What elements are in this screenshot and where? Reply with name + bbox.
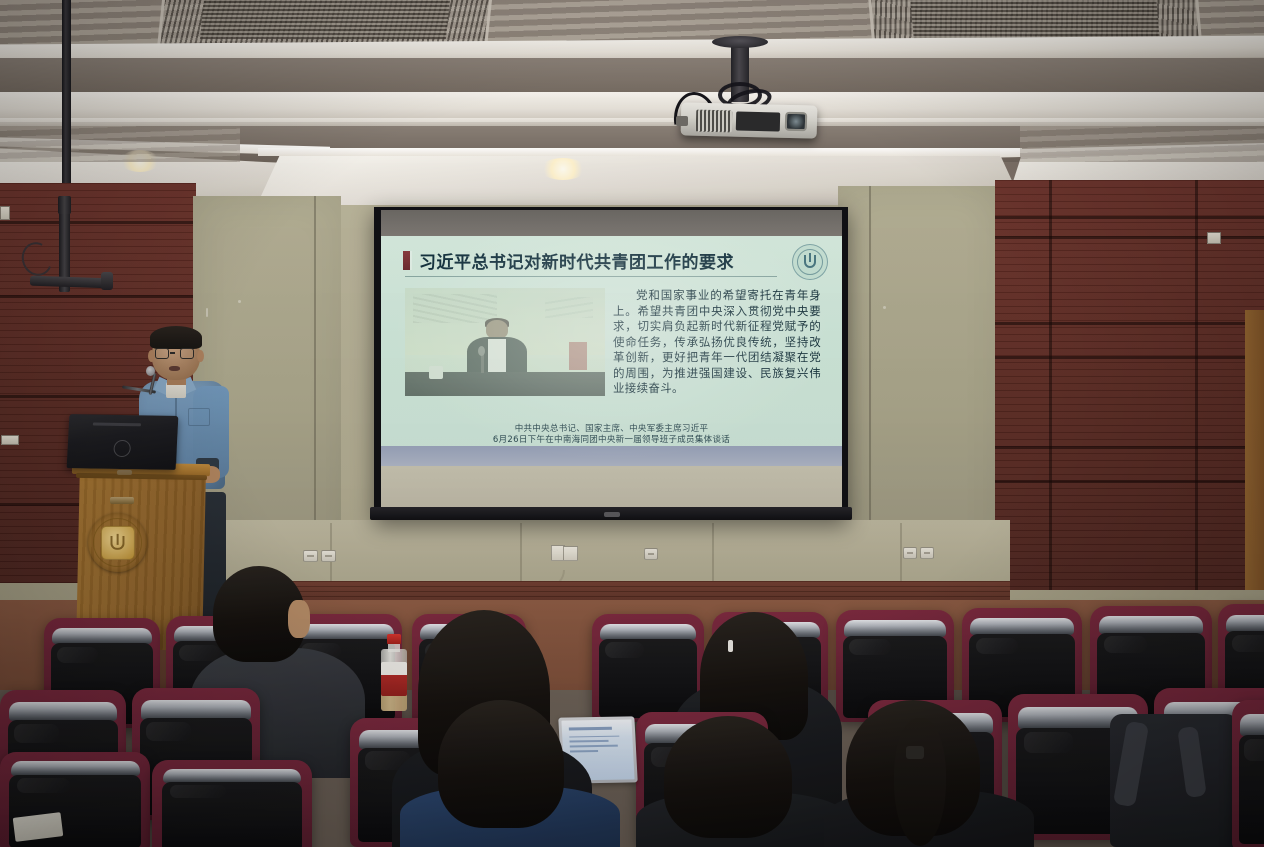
ceiling-coffer-center-lip — [258, 148, 1022, 156]
wall-bracket-base — [58, 196, 71, 214]
wall-lower-seam-3 — [712, 523, 714, 583]
bottle-label — [381, 662, 407, 696]
laptop-doc-line-4 — [570, 750, 598, 752]
slide: 习近平总书记对新时代共青团工作的要求 — [381, 236, 842, 466]
speaker-glasses-left-lens — [155, 348, 169, 359]
speaker-hair — [150, 326, 202, 349]
speaker-glasses-right-lens — [180, 348, 194, 359]
screen-top-rail — [381, 210, 842, 236]
slide-title-accent-bar — [403, 251, 410, 270]
wall-blemish-1 — [238, 300, 241, 303]
seat-foreground-left-2[interactable] — [152, 760, 312, 847]
wall-sign-right — [1207, 232, 1221, 244]
speaker-ear-left — [148, 350, 155, 362]
podium-control-button[interactable] — [117, 470, 132, 475]
person6-hair-claw-clip — [906, 746, 924, 759]
ceiling-slats-lower-right — [1020, 126, 1264, 162]
wall-outlet-2[interactable] — [321, 550, 336, 562]
seat-foreground-right[interactable] — [1232, 700, 1264, 847]
person4-head — [438, 700, 564, 828]
projector-connector — [676, 116, 688, 126]
person1-face-edge — [288, 600, 310, 638]
slide-caption-line1: 中共中央总书记、国家主席、中央军委主席习近平 — [381, 424, 842, 435]
slide-body-text: 党和国家事业的希望寄托在青年身上。希望共青团中央深入贯彻党中央要求，切实肩负起新… — [613, 288, 821, 397]
projector-vent-grille — [696, 110, 733, 133]
wall-outlet-3[interactable] — [644, 548, 658, 560]
wall-outlet-5[interactable] — [920, 547, 934, 559]
slide-caption-line2: 6月26日下午在中南海同团中央新一届领导班子成员集体谈话 — [381, 435, 842, 446]
laptop-doc-line-1 — [569, 735, 619, 737]
screen-pull-tab — [604, 512, 620, 517]
laptop-doc-heading — [569, 727, 613, 731]
slide-title: 习近平总书记对新时代共青团工作的要求 — [419, 248, 734, 273]
backpack-strap-left — [1113, 721, 1149, 808]
wall-plate-left — [1, 435, 19, 445]
person5-head — [664, 716, 792, 838]
wall-junction-box-2 — [563, 546, 578, 561]
wood-wall-right — [995, 180, 1264, 590]
podium-control-panel[interactable] — [110, 497, 134, 504]
speaker-mouth — [169, 366, 180, 371]
bottle-cap — [387, 634, 401, 644]
ceiling-downlight-center — [540, 158, 586, 180]
wall-outlet-4[interactable] — [903, 547, 917, 559]
podium-university-emblem — [88, 513, 147, 572]
person6-ponytail — [894, 718, 946, 846]
speaker-ear-right — [197, 350, 204, 362]
laptop-doc-line-3 — [570, 745, 618, 747]
laptop-doc-line-2 — [569, 740, 608, 742]
person2-hair-clip — [728, 640, 733, 652]
wall-blemish-2 — [206, 308, 208, 317]
projector-cable-bundle — [736, 111, 780, 131]
projection-screen-surface: 习近平总书记对新时代共青团工作的要求 — [381, 210, 842, 510]
projector-lens — [785, 112, 807, 132]
backpack — [1110, 714, 1238, 847]
backpack-strap-right — [1177, 726, 1207, 798]
slide-photo — [405, 288, 605, 396]
wall-outlet-1[interactable] — [303, 550, 318, 562]
laptop-bezel-strip — [93, 422, 141, 426]
laptop-logo-icon — [113, 440, 131, 457]
podium-laptop[interactable] — [67, 414, 179, 470]
door-frame-right — [1245, 310, 1264, 590]
screen-unlit-area — [381, 466, 842, 510]
lecture-hall-photo: 习近平总书记对新时代共青团工作的要求 — [0, 0, 1264, 847]
wall-blemish-3 — [883, 306, 886, 309]
podium-mic-head — [146, 366, 155, 376]
projector-ceiling-plate — [712, 36, 768, 48]
slide-title-row: 习近平总书记对新时代共青团工作的要求 — [403, 248, 734, 273]
speaker-glasses-bridge — [170, 352, 175, 354]
wall-sign-left — [0, 206, 10, 220]
speaker-shirt-pocket — [188, 408, 210, 426]
university-emblem-icon — [792, 244, 828, 280]
slide-footer-band — [381, 446, 842, 466]
wall-bracket-head — [101, 272, 113, 290]
slide-title-underline — [405, 276, 777, 277]
wall-lower-seam-4 — [900, 523, 902, 583]
ceiling-slats-lower-left — [0, 126, 240, 162]
